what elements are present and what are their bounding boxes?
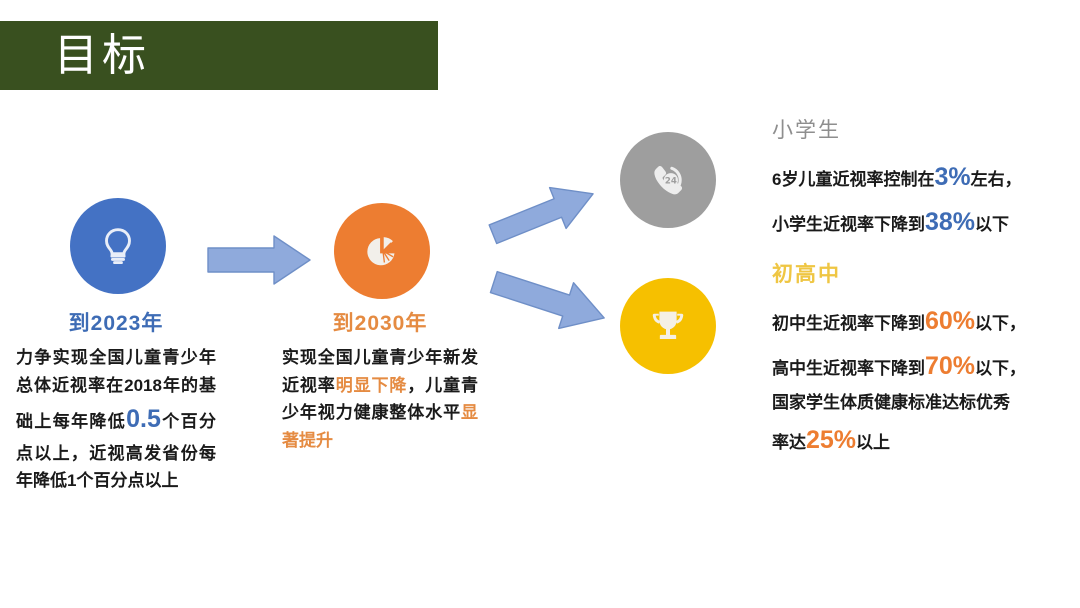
text-part: 国家学生体质健康标准达标优秀 [772,393,1010,412]
title-banner: 目标 [0,21,438,90]
metric-value: 38% [925,208,975,236]
stage-2030-heading: 到2030年 [282,311,478,336]
pie-chart-icon [359,228,405,274]
primary-school-heading: 小学生 [772,118,1022,143]
node-icon-primary-school[interactable]: 24 [620,132,716,228]
stage-2023-heading: 到2023年 [16,311,216,336]
metric-value: 60% [925,307,975,335]
arrow-to-primary-school [485,180,601,253]
text-part: 以下， [975,314,1026,333]
middle-high-school-line: 初中生近视率下降到60%以下， [772,299,1026,344]
text-part: 小学生近视率下降到 [772,215,925,234]
arrow-2023-to-2030 [206,233,312,292]
slide-canvas: 目标 [0,0,1080,608]
metric-value: 25% [806,426,856,454]
text-part: 以下 [975,215,1009,234]
middle-high-school-heading: 初高中 [772,262,1026,287]
primary-school-line: 小学生近视率下降到38%以下 [772,200,1022,245]
text-part: 6岁儿童近视率控制在 [772,170,934,189]
stage-column-2023: 到2023年 力争实现全国儿童青少年总体近视率在2018年的基础上每年降低0.5… [16,311,216,495]
middle-high-school-line: 高中生近视率下降到70%以下， [772,344,1026,389]
text-part: 以下， [975,359,1026,378]
text-part: 初中生近视率下降到 [772,314,925,333]
lightbulb-icon [95,223,141,269]
node-icon-middle-high-school[interactable] [620,278,716,374]
text-part: 左右， [971,170,1022,189]
target-block-primary-school: 小学生 6岁儿童近视率控制在3%左右， 小学生近视率下降到38%以下 [772,118,1022,244]
stage-2023-body: 力争实现全国儿童青少年总体近视率在2018年的基础上每年降低0.5个百分点以上，… [16,344,216,495]
primary-school-body: 6岁儿童近视率控制在3%左右， 小学生近视率下降到38%以下 [772,155,1022,244]
text-part: 率达 [772,433,806,452]
text-part: 以上 [856,433,890,452]
target-block-middle-high-school: 初高中 初中生近视率下降到60%以下， 高中生近视率下降到70%以下， 国家学生… [772,262,1026,463]
phone-24h-support-icon: 24 [645,157,691,203]
metric-value: 70% [925,352,975,380]
metric-value: 3% [934,163,970,191]
arrow-to-middle-high-school [485,262,613,343]
middle-high-school-line: 国家学生体质健康标准达标优秀 [772,388,1026,418]
stage-2023-highlight-value: 0.5 [126,405,161,433]
stage-2030-body: 实现全国儿童青少年新发近视率明显下降，儿童青少年视力健康整体水平显著提升 [282,344,478,454]
page-title: 目标 [54,34,150,78]
svg-text:24: 24 [665,176,677,186]
middle-high-school-line: 率达25%以上 [772,418,1026,463]
text-part: 高中生近视率下降到 [772,359,925,378]
primary-school-line: 6岁儿童近视率控制在3%左右， [772,155,1022,200]
trophy-icon [645,303,691,349]
node-icon-2023[interactable] [70,198,166,294]
stage-column-2030: 到2030年 实现全国儿童青少年新发近视率明显下降，儿童青少年视力健康整体水平显… [282,311,478,454]
middle-high-school-body: 初中生近视率下降到60%以下， 高中生近视率下降到70%以下， 国家学生体质健康… [772,299,1026,463]
stage-2030-highlight-1: 明显下降 [336,376,408,395]
node-icon-2030[interactable] [334,203,430,299]
